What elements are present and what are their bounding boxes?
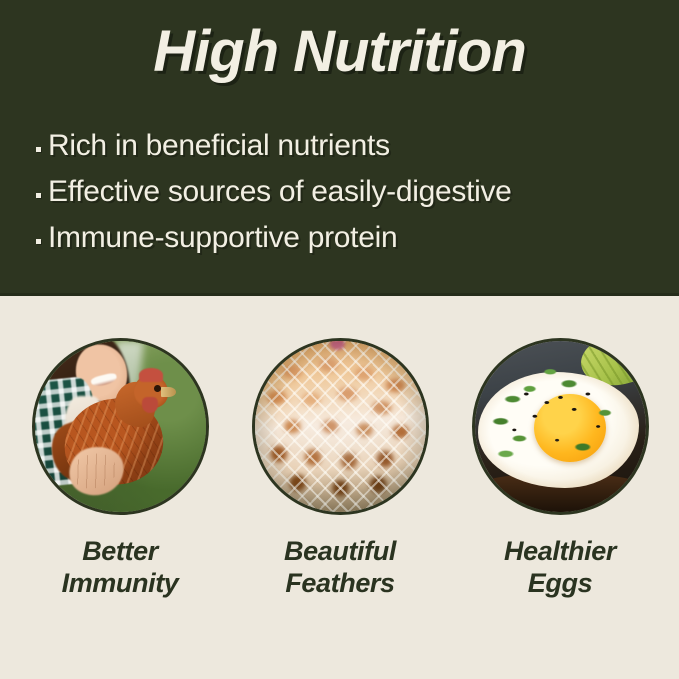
bullet-dot-icon <box>36 174 48 204</box>
caption-line-2: Feathers <box>240 567 440 599</box>
benefits-panel: Better Immunity Beautiful Feathers <box>0 299 679 679</box>
feather-shading <box>255 341 426 512</box>
bullet-dot-icon <box>36 128 48 158</box>
benefit-bullet-list: Rich in beneficial nutrients Effective s… <box>36 128 656 266</box>
benefit-photo-immunity <box>32 338 209 515</box>
bullet-item: Rich in beneficial nutrients <box>36 128 656 163</box>
caption-line-2: Eggs <box>460 567 660 599</box>
caption-line-1: Better <box>20 535 220 567</box>
bullet-item: Effective sources of easily-digestive <box>36 174 656 209</box>
benefit-card-immunity: Better Immunity <box>20 338 220 599</box>
caption-line-1: Beautiful <box>240 535 440 567</box>
bullet-dot-icon <box>36 220 48 250</box>
photo-chicken-feathers <box>255 341 426 512</box>
benefit-caption-feathers: Beautiful Feathers <box>240 535 440 599</box>
caption-line-2: Immunity <box>20 567 220 599</box>
bullet-item: Immune-supportive protein <box>36 220 656 255</box>
hen-wattle <box>142 397 157 412</box>
hen-comb <box>139 368 163 382</box>
benefit-photo-feathers <box>252 338 429 515</box>
caption-line-1: Healthier <box>460 535 660 567</box>
bullet-text: Effective sources of easily-digestive <box>48 174 512 209</box>
bullet-text: Immune-supportive protein <box>48 220 397 255</box>
bullet-text: Rich in beneficial nutrients <box>48 128 390 163</box>
benefit-caption-immunity: Better Immunity <box>20 535 220 599</box>
photo-woman-holding-hen <box>35 341 206 512</box>
benefit-photo-eggs <box>472 338 649 515</box>
benefit-card-feathers: Beautiful Feathers <box>240 338 440 599</box>
sesame-seeds <box>475 341 646 512</box>
benefit-card-eggs: Healthier Eggs <box>460 338 660 599</box>
benefit-caption-eggs: Healthier Eggs <box>460 535 660 599</box>
page-title: High Nutrition <box>0 22 679 83</box>
nutrition-infographic: High Nutrition Rich in beneficial nutrie… <box>0 0 679 679</box>
photo-fried-egg <box>475 341 646 512</box>
hero-panel: High Nutrition Rich in beneficial nutrie… <box>0 0 679 296</box>
